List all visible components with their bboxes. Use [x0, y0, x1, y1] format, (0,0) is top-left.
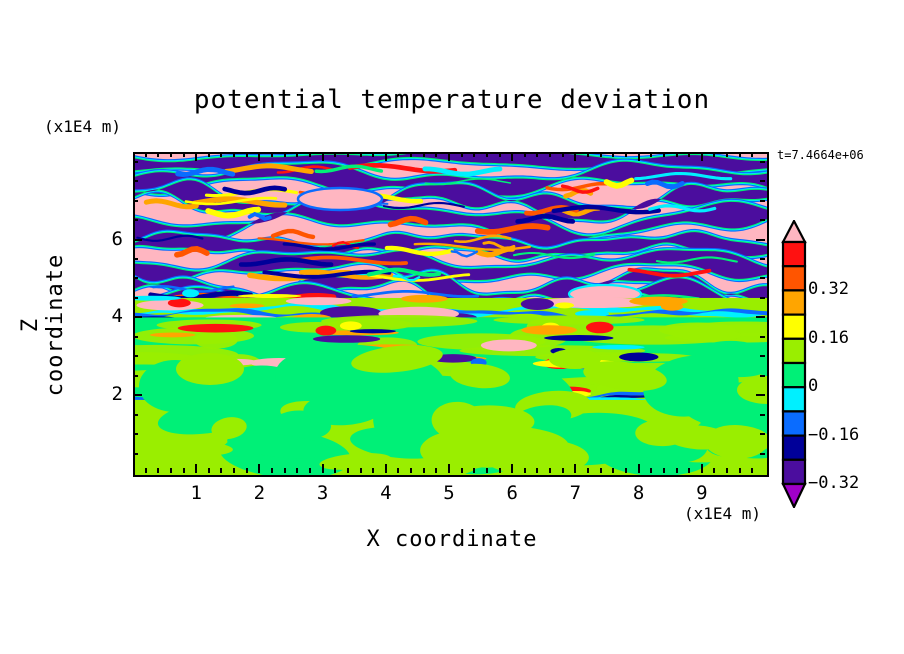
x-tick-top [688, 152, 690, 157]
x-axis-units: (x1E4 m) [684, 504, 761, 523]
y-tick-right [760, 355, 765, 357]
x-tick [183, 468, 185, 473]
x-tick-top [334, 152, 336, 157]
x-tick [499, 468, 501, 473]
y-tick-label: 4 [93, 305, 123, 327]
x-tick [410, 468, 412, 473]
x-tick [486, 468, 488, 473]
colorbar [781, 220, 807, 508]
x-tick [713, 468, 715, 473]
y-axis-units: (x1E4 m) [44, 117, 121, 136]
x-tick-top [600, 152, 602, 157]
y-tick-label: 6 [93, 228, 123, 250]
x-tick [600, 468, 602, 473]
y-tick [133, 277, 138, 279]
x-tick-top [397, 152, 399, 157]
x-tick [536, 468, 538, 473]
x-tick-top [410, 152, 412, 157]
x-tick [574, 464, 576, 473]
x-tick [435, 468, 437, 473]
x-tick-top [473, 152, 475, 157]
colorbar-tick-label: 0.16 [808, 328, 849, 348]
colorbar-tick-label: −0.32 [808, 473, 859, 493]
y-tick-right [760, 414, 765, 416]
x-tick-top [676, 152, 678, 157]
x-tick-top [284, 152, 286, 157]
x-tick-top [423, 152, 425, 157]
x-tick-top [536, 152, 538, 157]
x-tick [284, 468, 286, 473]
x-tick [448, 464, 450, 473]
x-tick [701, 464, 703, 473]
x-tick-top [701, 152, 703, 161]
y-tick-right [760, 258, 765, 260]
x-tick-top [246, 152, 248, 157]
y-tick [133, 375, 138, 377]
x-tick [195, 464, 197, 473]
x-tick [587, 468, 589, 473]
figure-canvas: potential temperature deviation t=7.4664… [0, 0, 904, 654]
x-tick [676, 468, 678, 473]
page-title: potential temperature deviation [0, 85, 904, 115]
x-tick [511, 464, 513, 473]
x-tick [322, 464, 324, 473]
x-tick [145, 468, 147, 473]
x-tick-top [663, 152, 665, 157]
x-tick-top [360, 152, 362, 157]
x-tick-top [587, 152, 589, 157]
x-tick [347, 468, 349, 473]
x-tick [258, 464, 260, 473]
x-tick-top [562, 152, 564, 157]
x-tick [423, 468, 425, 473]
x-tick-label: 7 [555, 482, 595, 504]
x-tick [309, 468, 311, 473]
x-tick [549, 468, 551, 473]
x-tick [663, 468, 665, 473]
y-tick [133, 219, 138, 221]
x-tick-top [625, 152, 627, 157]
x-tick-label: 9 [682, 482, 722, 504]
x-tick-top [435, 152, 437, 157]
x-tick-top [638, 152, 640, 161]
x-tick [170, 468, 172, 473]
x-tick-label: 2 [239, 482, 279, 504]
x-tick [625, 468, 627, 473]
x-tick [726, 468, 728, 473]
x-tick [461, 468, 463, 473]
x-axis-title: X coordinate [0, 527, 904, 552]
y-tick-label: 2 [93, 383, 123, 405]
colorbar-tick-label: 0.32 [808, 279, 849, 299]
y-tick-right [760, 336, 765, 338]
y-tick-right [760, 180, 765, 182]
x-tick-top [486, 152, 488, 157]
x-tick-top [574, 152, 576, 161]
x-tick [473, 468, 475, 473]
x-tick-top [612, 152, 614, 157]
x-tick-top [726, 152, 728, 157]
x-tick [296, 468, 298, 473]
y-tick [133, 394, 142, 396]
colorbar-tick-label: 0 [808, 376, 818, 396]
x-tick-top [322, 152, 324, 161]
x-tick [157, 468, 159, 473]
x-tick [220, 468, 222, 473]
x-tick-label: 4 [366, 482, 406, 504]
x-tick-top [524, 152, 526, 157]
x-tick-label: 1 [176, 482, 216, 504]
y-tick-right [760, 161, 765, 163]
x-tick-top [739, 152, 741, 157]
y-tick-right [760, 200, 765, 202]
x-tick-top [309, 152, 311, 157]
y-tick-right [756, 239, 765, 241]
x-tick-top [220, 152, 222, 157]
y-tick-right [760, 277, 765, 279]
x-tick [385, 464, 387, 473]
x-tick-label: 5 [429, 482, 469, 504]
y-tick [133, 258, 138, 260]
x-tick [271, 468, 273, 473]
x-tick [612, 468, 614, 473]
y-tick [133, 355, 138, 357]
x-tick-top [183, 152, 185, 157]
x-tick-top [233, 152, 235, 157]
contour-plot [133, 152, 769, 477]
y-tick [133, 453, 138, 455]
y-tick [133, 414, 138, 416]
time-stamp: t=7.4664e+06 [777, 148, 864, 162]
x-tick-top [347, 152, 349, 157]
x-tick-top [713, 152, 715, 157]
x-tick-top [448, 152, 450, 161]
x-tick-top [271, 152, 273, 157]
x-tick-label: 8 [619, 482, 659, 504]
y-tick [133, 161, 138, 163]
x-tick-top [296, 152, 298, 157]
y-tick [133, 433, 138, 435]
x-tick-top [170, 152, 172, 157]
y-tick [133, 316, 142, 318]
y-tick [133, 200, 138, 202]
x-tick [334, 468, 336, 473]
y-tick [133, 336, 138, 338]
x-tick-top [258, 152, 260, 161]
x-tick-top [751, 152, 753, 157]
x-tick [208, 468, 210, 473]
y-tick [133, 297, 138, 299]
x-tick-top [372, 152, 374, 157]
y-tick [133, 180, 138, 182]
x-tick-top [650, 152, 652, 157]
contour-field [135, 154, 767, 475]
x-tick [524, 468, 526, 473]
colorbar-tick-label: −0.16 [808, 425, 859, 445]
x-tick-top [157, 152, 159, 157]
x-tick [562, 468, 564, 473]
x-tick-top [461, 152, 463, 157]
y-tick-right [756, 316, 765, 318]
y-axis-title: Z coordinate [18, 245, 68, 405]
x-tick-top [499, 152, 501, 157]
x-tick [372, 468, 374, 473]
x-tick [397, 468, 399, 473]
x-tick [688, 468, 690, 473]
x-tick-top [385, 152, 387, 161]
y-tick-right [760, 219, 765, 221]
x-tick [360, 468, 362, 473]
x-tick-top [208, 152, 210, 157]
x-tick-top [195, 152, 197, 161]
x-tick-label: 6 [492, 482, 532, 504]
x-tick [233, 468, 235, 473]
x-tick [650, 468, 652, 473]
x-tick-top [511, 152, 513, 161]
x-tick [246, 468, 248, 473]
y-tick-right [756, 394, 765, 396]
x-tick [751, 468, 753, 473]
x-tick [638, 464, 640, 473]
y-tick-right [760, 453, 765, 455]
y-tick [133, 239, 142, 241]
x-tick-label: 3 [303, 482, 343, 504]
y-tick-right [760, 375, 765, 377]
x-tick [739, 468, 741, 473]
y-tick-right [760, 297, 765, 299]
x-tick-top [549, 152, 551, 157]
x-tick-top [145, 152, 147, 157]
y-tick-right [760, 433, 765, 435]
